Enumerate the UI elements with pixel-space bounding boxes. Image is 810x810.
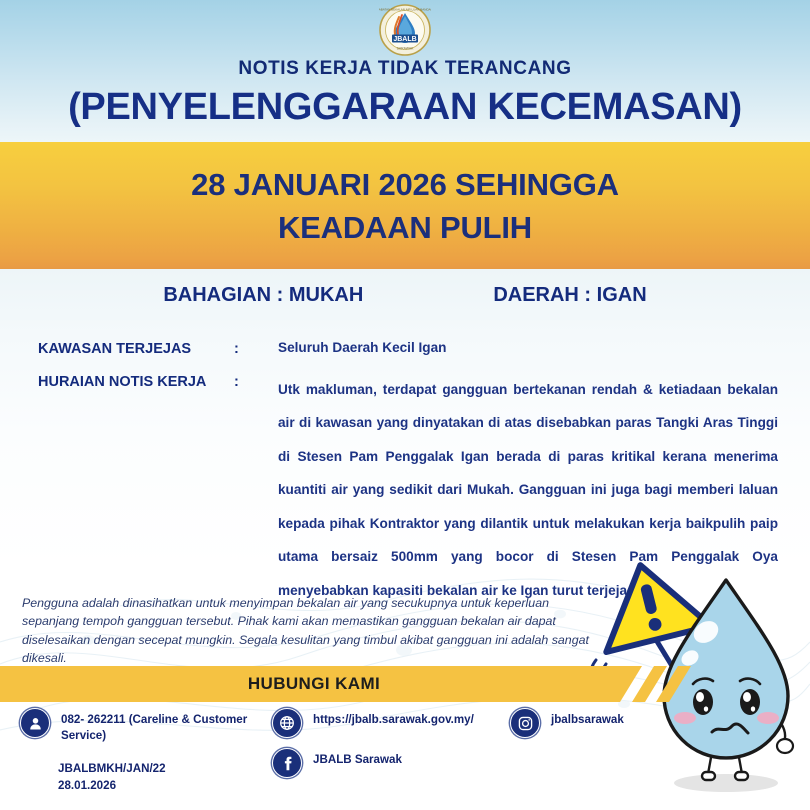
notice-poster: JBALB SARAWAK JABATAN BEKALAN AIR LUAR B… [0, 0, 810, 810]
affected-area-row: KAWASAN TERJEJAS : Seluruh Daerah Kecil … [38, 340, 778, 357]
contact-facebook-text: JBALB Sarawak [313, 748, 402, 768]
contact-instagram[interactable]: jbalbsarawak [510, 708, 730, 738]
reference-code: JBALBMKH/JAN/22 [58, 760, 166, 777]
affected-area-value: Seluruh Daerah Kecil Igan [278, 340, 778, 356]
contact-banner: HUBUNGI KAMI [0, 666, 810, 702]
affected-area-colon: : [234, 340, 278, 357]
svg-text:JBALB: JBALB [393, 36, 416, 43]
poster-header: JBALB SARAWAK JABATAN BEKALAN AIR LUAR B… [0, 0, 810, 142]
division-row: BAHAGIAN : MUKAH DAERAH : IGAN [0, 284, 810, 307]
person-icon [20, 708, 50, 738]
instagram-icon [510, 708, 540, 738]
svg-text:SARAWAK: SARAWAK [397, 46, 414, 50]
affected-area-label: KAWASAN TERJEJAS [38, 340, 234, 357]
contact-banner-bar: HUBUNGI KAMI [0, 666, 642, 702]
contact-phone[interactable]: 082- 262211 (Careline & Customer Service… [20, 708, 270, 745]
contact-website-text: https://jbalb.sarawak.gov.my/ [313, 708, 474, 728]
header-subtitle: NOTIS KERJA TIDAK TERANCANG [0, 58, 810, 80]
notice-description-colon: : [234, 373, 278, 390]
contact-instagram-text: jbalbsarawak [551, 708, 624, 728]
page-title: (PENYELENGGARAAN KECEMASAN) [0, 86, 810, 129]
date-line-2: KEADAAN PULIH [278, 207, 532, 250]
notice-description-label: HURAIAN NOTIS KERJA [38, 373, 234, 390]
contact-list: 082- 262211 (Careline & Customer Service… [0, 706, 810, 796]
svg-text:JABATAN BEKALAN AIR LUAR BANDA: JABATAN BEKALAN AIR LUAR BANDAR [379, 7, 431, 11]
contact-website[interactable]: https://jbalb.sarawak.gov.my/ [272, 708, 522, 738]
contact-phone-text: 082- 262211 (Careline & Customer Service… [61, 708, 270, 745]
date-banner: 28 JANUARI 2026 SEHINGGA KEADAAN PULIH [0, 142, 810, 269]
daerah-label: DAERAH : IGAN [493, 284, 646, 307]
disclaimer-text: Pengguna adalah dinasihatkan untuk menyi… [22, 594, 602, 667]
facebook-icon [272, 748, 302, 778]
contact-banner-title: HUBUNGI KAMI [248, 674, 380, 694]
jbalb-logo: JBALB SARAWAK JABATAN BEKALAN AIR LUAR B… [379, 4, 431, 56]
date-line-1: 28 JANUARI 2026 SEHINGGA [191, 164, 619, 207]
globe-icon [272, 708, 302, 738]
bahagian-label: BAHAGIAN : MUKAH [163, 284, 363, 307]
reference-date: 28.01.2026 [58, 777, 166, 794]
contact-facebook[interactable]: JBALB Sarawak [272, 748, 522, 778]
reference-block: JBALBMKH/JAN/22 28.01.2026 [58, 760, 166, 794]
